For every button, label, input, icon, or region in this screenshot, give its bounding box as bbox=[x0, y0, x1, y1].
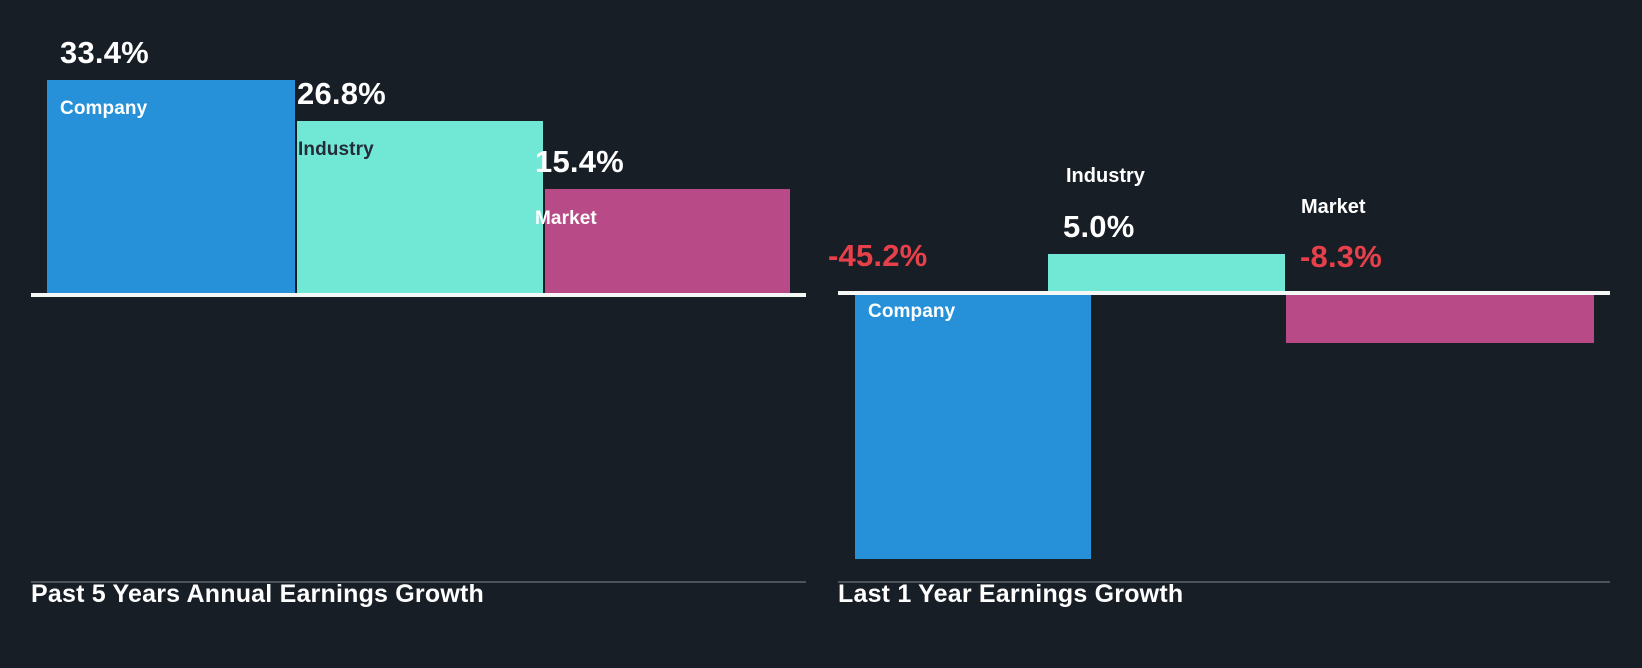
value-label-market-last1: -8.3% bbox=[1300, 241, 1382, 272]
zero-axis-past5 bbox=[31, 293, 806, 297]
bar-series-label-company-last1: Company bbox=[868, 301, 955, 323]
caption-past-5-years: Past 5 Years Annual Earnings Growth bbox=[31, 580, 484, 609]
plot-area-past-5-years: 33.4% Company 26.8% Industry 15.4% Marke… bbox=[0, 0, 806, 568]
value-label-market-past5: 15.4% bbox=[535, 146, 624, 177]
bar-company-last1[interactable] bbox=[855, 295, 1091, 559]
zero-axis-last1 bbox=[838, 291, 1610, 295]
bar-series-label-industry-last1: Industry bbox=[1066, 166, 1145, 186]
bar-market-last1[interactable] bbox=[1286, 295, 1594, 343]
bar-series-label-market-past5: Market bbox=[535, 208, 597, 230]
bar-series-label-market-last1: Market bbox=[1301, 197, 1365, 217]
value-label-company-past5: 33.4% bbox=[60, 37, 149, 68]
value-label-company-last1: -45.2% bbox=[828, 240, 927, 271]
caption-last-1-year: Last 1 Year Earnings Growth bbox=[838, 580, 1183, 609]
plot-area-last-1-year: -45.2% Company Industry 5.0% Market -8.3… bbox=[838, 0, 1642, 568]
bar-industry-last1[interactable] bbox=[1048, 254, 1285, 293]
earnings-growth-chart: 33.4% Company 26.8% Industry 15.4% Marke… bbox=[0, 0, 1642, 668]
value-label-industry-past5: 26.8% bbox=[297, 78, 386, 109]
value-label-industry-last1: 5.0% bbox=[1063, 211, 1134, 242]
bar-market-past5[interactable] bbox=[545, 189, 790, 295]
panel-last-1-year: -45.2% Company Industry 5.0% Market -8.3… bbox=[838, 0, 1642, 668]
bar-series-label-company-past5: Company bbox=[60, 98, 147, 120]
bar-series-label-industry-past5: Industry bbox=[298, 139, 374, 161]
panel-past-5-years: 33.4% Company 26.8% Industry 15.4% Marke… bbox=[0, 0, 806, 668]
